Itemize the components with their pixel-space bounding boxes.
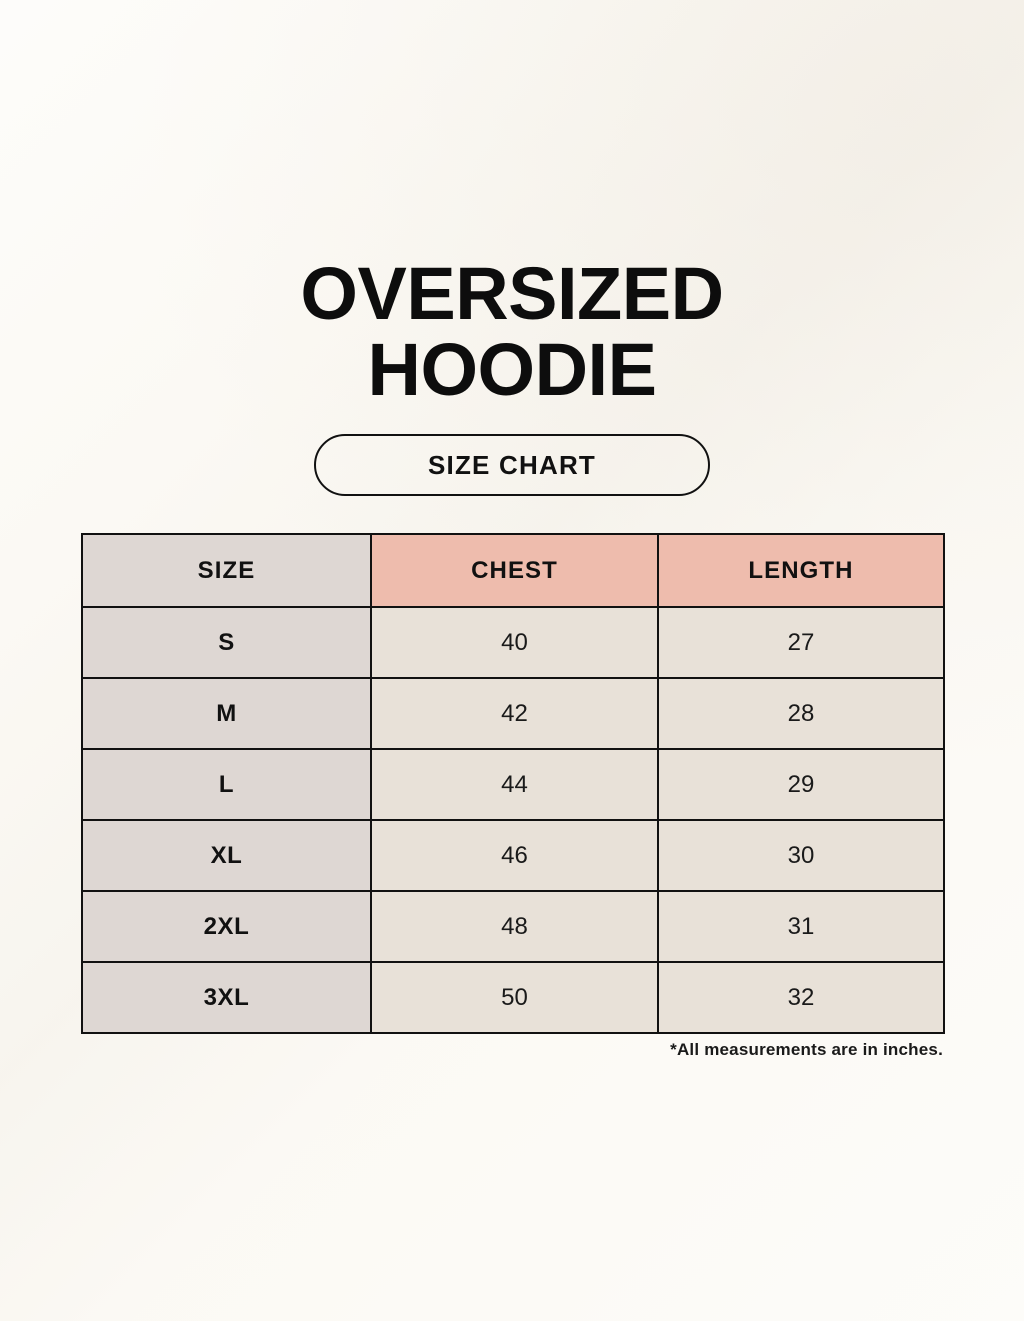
page-title: OVERSIZED HOODIE (0, 256, 1024, 408)
measurement-units-footnote: *All measurements are in inches. (81, 1040, 943, 1060)
cell-length: 32 (658, 962, 944, 1033)
cell-size: S (82, 607, 371, 678)
table-row: S 40 27 (82, 607, 944, 678)
page-title-line-1: OVERSIZED (0, 256, 1024, 332)
cell-length: 28 (658, 678, 944, 749)
size-chart-page: OVERSIZED HOODIE SIZE CHART SIZE CHEST L… (0, 0, 1024, 1321)
size-chart-badge: SIZE CHART (314, 434, 710, 496)
size-chart-badge-wrapper: SIZE CHART (0, 434, 1024, 496)
column-header-chest: CHEST (371, 534, 658, 607)
cell-length: 31 (658, 891, 944, 962)
cell-chest: 48 (371, 891, 658, 962)
table-row: 3XL 50 32 (82, 962, 944, 1033)
cell-length: 27 (658, 607, 944, 678)
size-chart-badge-label: SIZE CHART (428, 450, 596, 481)
column-header-size: SIZE (82, 534, 371, 607)
size-chart-table: SIZE CHEST LENGTH S 40 27 M 42 28 L 44 2… (81, 533, 945, 1034)
table-body: S 40 27 M 42 28 L 44 29 XL 46 30 2XL 48 (82, 607, 944, 1033)
cell-size: 3XL (82, 962, 371, 1033)
cell-chest: 46 (371, 820, 658, 891)
cell-chest: 44 (371, 749, 658, 820)
table-row: XL 46 30 (82, 820, 944, 891)
cell-size: 2XL (82, 891, 371, 962)
table-row: M 42 28 (82, 678, 944, 749)
cell-chest: 50 (371, 962, 658, 1033)
page-title-line-2: HOODIE (0, 332, 1024, 408)
cell-length: 30 (658, 820, 944, 891)
cell-chest: 42 (371, 678, 658, 749)
table-row: L 44 29 (82, 749, 944, 820)
table-row: 2XL 48 31 (82, 891, 944, 962)
cell-size: XL (82, 820, 371, 891)
cell-length: 29 (658, 749, 944, 820)
column-header-length: LENGTH (658, 534, 944, 607)
table-header-row: SIZE CHEST LENGTH (82, 534, 944, 607)
cell-size: L (82, 749, 371, 820)
cell-size: M (82, 678, 371, 749)
table-header: SIZE CHEST LENGTH (82, 534, 944, 607)
cell-chest: 40 (371, 607, 658, 678)
